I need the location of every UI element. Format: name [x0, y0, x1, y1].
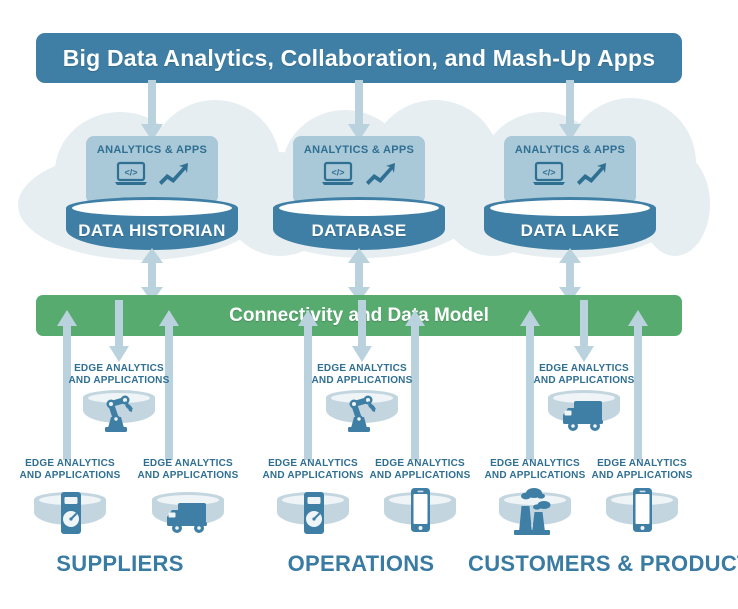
arrow-down-operations-center: [351, 300, 373, 362]
edge-node-suppliers-robot: [83, 390, 155, 430]
edge-label-line1: EDGE ANALYTICS: [539, 363, 629, 374]
big-data-analytics-bar-label: Big Data Analytics, Collaboration, and M…: [63, 45, 656, 72]
robot-arm-icon: [326, 384, 398, 434]
gauge-meter-icon: [34, 486, 106, 536]
laptop-code-icon: </>: [114, 161, 148, 192]
arrow-down-to-data-lake: [558, 80, 582, 142]
factory-icon: [499, 486, 571, 536]
analytics-apps-card-data-lake: ANALYTICS & APPS </>: [504, 136, 636, 204]
mobile-phone-icon: [606, 486, 678, 536]
group-label-suppliers: SUPPLIERS: [5, 551, 235, 577]
edge-node-suppliers-truck: [152, 492, 224, 532]
group-label-customers-products: CUSTOMERS & PRODUCTS: [468, 551, 718, 577]
group-label-operations: OPERATIONS: [246, 551, 476, 577]
analytics-apps-card-database: ANALYTICS & APPS </>: [293, 136, 425, 204]
delivery-truck-icon: [152, 486, 224, 536]
trending-up-icon: [576, 161, 608, 192]
edge-label-line1: EDGE ANALYTICS: [375, 458, 465, 469]
edge-label-suppliers-gauge: EDGE ANALYTICS AND APPLICATIONS: [10, 458, 130, 482]
edge-node-customers-factory: [499, 492, 571, 532]
robot-arm-icon: [83, 384, 155, 434]
data-store-label: DATA LAKE: [484, 221, 656, 241]
edge-label-operations-gauge: EDGE ANALYTICS AND APPLICATIONS: [253, 458, 373, 482]
edge-node-operations-gauge: [277, 492, 349, 532]
edge-label-line1: EDGE ANALYTICS: [143, 458, 233, 469]
data-store-label: DATABASE: [273, 221, 445, 241]
delivery-truck-icon: [548, 384, 620, 434]
analytics-apps-card-title: ANALYTICS & APPS: [97, 144, 207, 156]
mobile-phone-icon: [384, 486, 456, 536]
analytics-apps-card-historian: ANALYTICS & APPS </>: [86, 136, 218, 204]
edge-node-customers-mobile: [606, 492, 678, 532]
svg-text:</>: </>: [331, 168, 344, 178]
edge-label-line1: EDGE ANALYTICS: [74, 363, 164, 374]
laptop-code-icon: </>: [321, 161, 355, 192]
arrow-down-suppliers-center: [108, 300, 130, 362]
edge-label-line1: EDGE ANALYTICS: [490, 458, 580, 469]
analytics-apps-card-title: ANALYTICS & APPS: [515, 144, 625, 156]
edge-label-line2: AND APPLICATIONS: [20, 470, 121, 481]
edge-label-line1: EDGE ANALYTICS: [268, 458, 358, 469]
trending-up-icon: [158, 161, 190, 192]
edge-label-line2: AND APPLICATIONS: [138, 470, 239, 481]
analytics-apps-card-title: ANALYTICS & APPS: [304, 144, 414, 156]
arrow-down-customers-center: [573, 300, 595, 362]
edge-node-operations-robot: [326, 390, 398, 430]
big-data-analytics-bar: Big Data Analytics, Collaboration, and M…: [36, 33, 682, 83]
gauge-meter-icon: [277, 486, 349, 536]
data-store-label: DATA HISTORIAN: [66, 221, 238, 241]
edge-node-suppliers-gauge: [34, 492, 106, 532]
edge-label-customers-factory: EDGE ANALYTICS AND APPLICATIONS: [475, 458, 595, 482]
edge-label-line2: AND APPLICATIONS: [263, 470, 364, 481]
edge-label-suppliers-truck: EDGE ANALYTICS AND APPLICATIONS: [128, 458, 248, 482]
edge-node-customers-truck: [548, 390, 620, 430]
arrow-down-to-database: [347, 80, 371, 142]
diagram-canvas: Big Data Analytics, Collaboration, and M…: [0, 0, 738, 609]
arrow-bidirectional-historian-connectivity: [140, 248, 164, 302]
arrow-bidirectional-database-connectivity: [347, 248, 371, 302]
edge-label-line1: EDGE ANALYTICS: [317, 363, 407, 374]
arrow-bidirectional-datalake-connectivity: [558, 248, 582, 302]
edge-label-operations-mobile: EDGE ANALYTICS AND APPLICATIONS: [360, 458, 480, 482]
arrow-down-to-historian: [140, 80, 164, 142]
edge-label-line2: AND APPLICATIONS: [370, 470, 471, 481]
edge-label-line1: EDGE ANALYTICS: [25, 458, 115, 469]
edge-label-line1: EDGE ANALYTICS: [597, 458, 687, 469]
edge-label-line2: AND APPLICATIONS: [485, 470, 586, 481]
svg-text:</>: </>: [124, 168, 137, 178]
edge-label-customers-mobile: EDGE ANALYTICS AND APPLICATIONS: [582, 458, 702, 482]
laptop-code-icon: </>: [532, 161, 566, 192]
edge-node-operations-mobile: [384, 492, 456, 532]
trending-up-icon: [365, 161, 397, 192]
edge-label-line2: AND APPLICATIONS: [592, 470, 693, 481]
svg-text:</>: </>: [542, 168, 555, 178]
